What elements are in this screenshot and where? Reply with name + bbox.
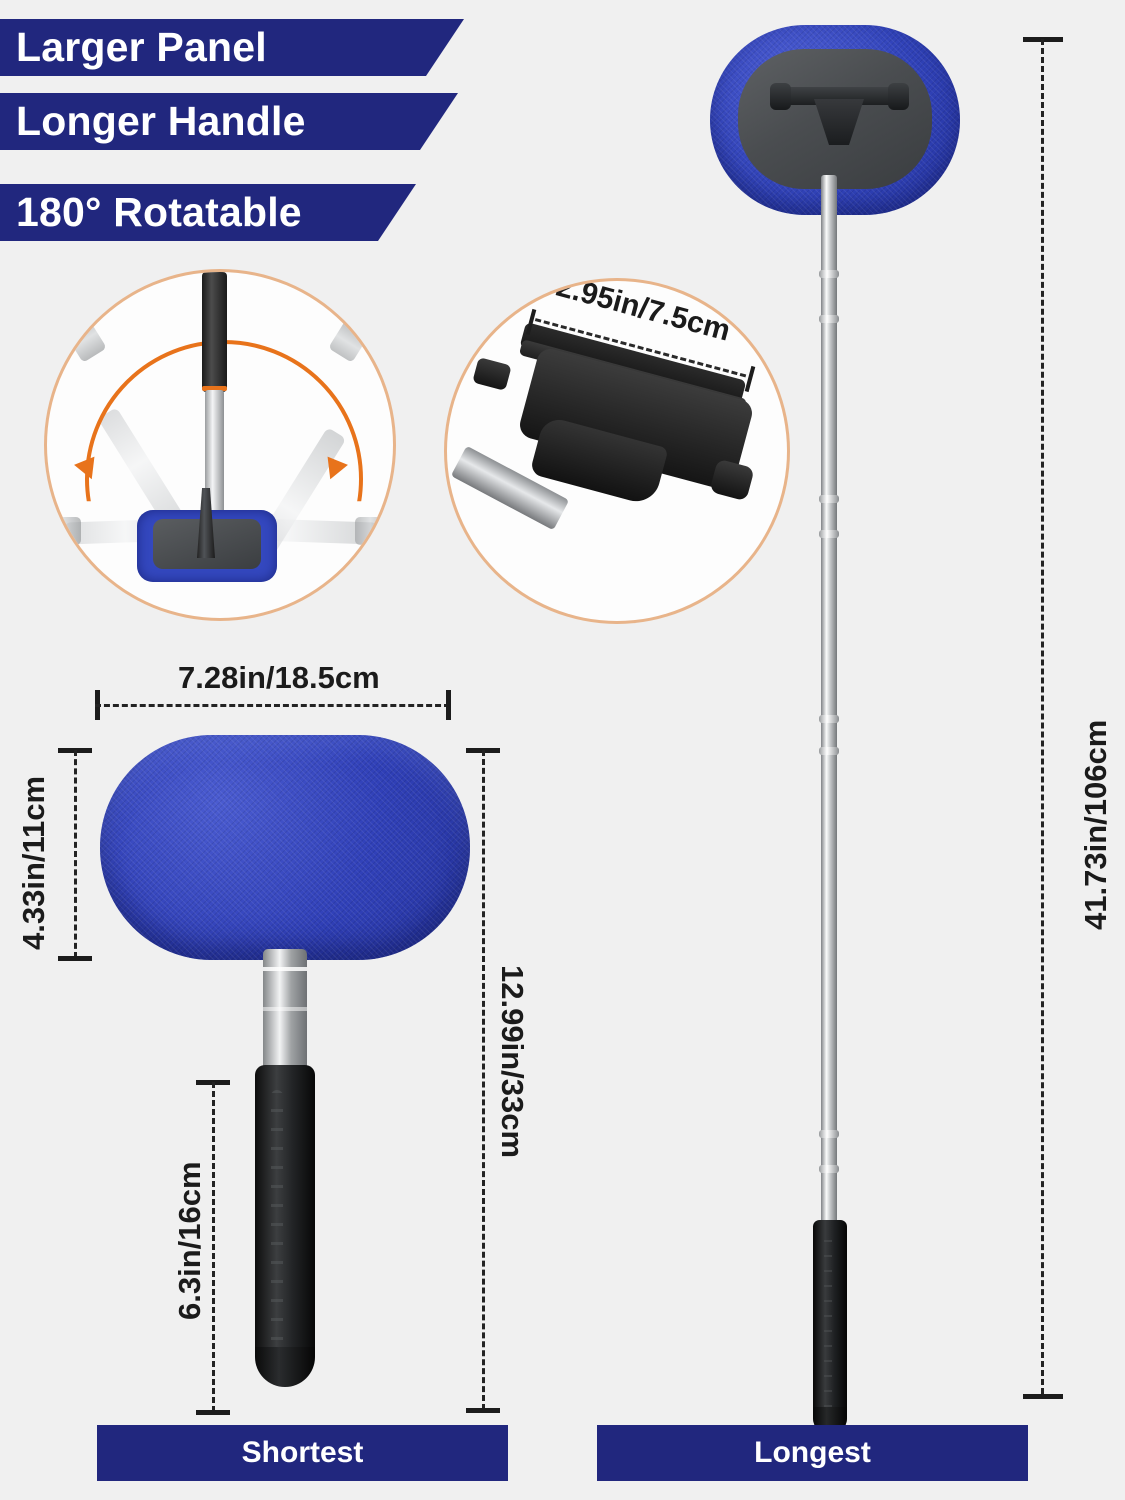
upright-pole-grip xyxy=(202,272,227,392)
pad-width-dimension-line xyxy=(95,704,450,707)
feature-banner-rotatable: 180° Rotatable xyxy=(0,184,416,241)
pole-joint-3 xyxy=(819,495,839,503)
infographic-canvas: Larger Panel Longer Handle 180° Rotatabl… xyxy=(0,0,1125,1500)
grip-texture-dots-long xyxy=(824,1240,832,1418)
caption-label: Shortest xyxy=(242,1436,364,1470)
product-longest-configuration xyxy=(700,25,1000,1425)
longest-total-dimension-line xyxy=(1041,39,1044,1394)
ghost-grip-left-mid xyxy=(65,319,107,363)
shaft-ring-upper xyxy=(263,967,307,971)
grip-length-tick-bottom xyxy=(196,1410,230,1415)
pole-joint-6 xyxy=(819,747,839,755)
pad-height-tick-bottom xyxy=(58,956,92,961)
rotation-inset-circle xyxy=(47,272,393,618)
ghost-grip-right-flat xyxy=(355,517,389,545)
grip-length-dimension-line xyxy=(212,1082,215,1412)
telescoping-pole xyxy=(821,175,837,1233)
pole-joint-8 xyxy=(819,1165,839,1173)
rubber-grip xyxy=(255,1065,315,1383)
feature-banner-larger-panel: Larger Panel xyxy=(0,19,464,76)
grip-texture-dots xyxy=(271,1090,283,1360)
banner-label: 180° Rotatable xyxy=(16,189,302,236)
shortest-total-tick-bottom xyxy=(466,1408,500,1413)
rotating-head xyxy=(137,510,277,582)
shortest-total-dimension-line xyxy=(482,750,485,1410)
ghost-grip-right-mid xyxy=(328,319,370,363)
caption-longest: Longest xyxy=(597,1425,1028,1481)
grip-end-cap xyxy=(255,1347,315,1387)
microfiber-pad-front xyxy=(100,735,470,960)
shaft-ring-lower xyxy=(263,1007,307,1011)
pole-joint-4 xyxy=(819,530,839,538)
pad-width-label: 7.28in/18.5cm xyxy=(178,660,380,696)
pole-joint-7 xyxy=(819,1130,839,1138)
longest-total-tick-bottom xyxy=(1023,1394,1063,1399)
feature-banner-longer-handle: Longer Handle xyxy=(0,93,458,150)
longest-total-label: 41.73in/106cm xyxy=(1078,720,1114,930)
pad-width-tick-right xyxy=(446,690,451,720)
product-shortest-configuration xyxy=(95,735,485,1415)
banner-label: Larger Panel xyxy=(16,24,267,71)
head-knob-right xyxy=(888,83,909,110)
squeegee-left-tab xyxy=(472,357,512,391)
pad-height-label: 4.33in/11cm xyxy=(16,776,52,950)
shortest-total-label: 12.99in/33cm xyxy=(494,965,530,1158)
head-knob-left xyxy=(770,83,791,110)
pole-joint-2 xyxy=(819,315,839,323)
pad-height-dimension-line xyxy=(74,750,77,958)
caption-label: Longest xyxy=(754,1436,871,1470)
pole-joint-5 xyxy=(819,715,839,723)
microfiber-texture xyxy=(100,735,470,960)
grip-length-label: 6.3in/16cm xyxy=(172,1161,208,1320)
caption-shortest: Shortest xyxy=(97,1425,508,1481)
banner-label: Longer Handle xyxy=(16,98,306,145)
pole-joint-1 xyxy=(819,270,839,278)
ghost-grip-left-flat xyxy=(47,517,81,545)
